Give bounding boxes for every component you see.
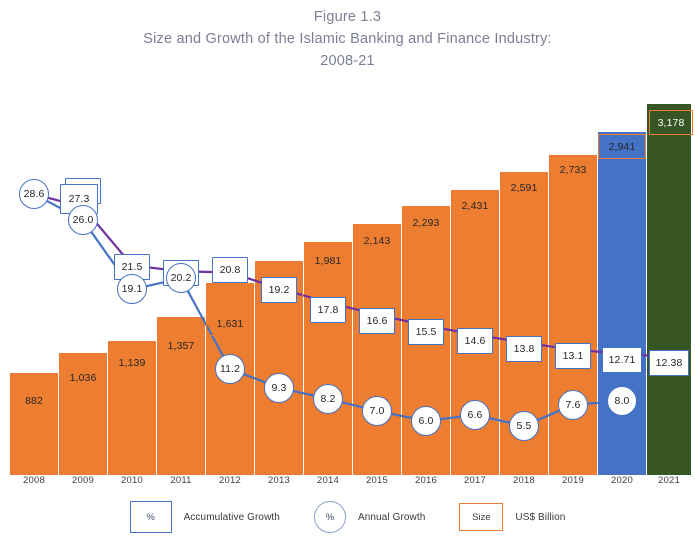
- size-label-2008: 882: [12, 388, 56, 413]
- accumulative-label-2019: 13.1: [555, 343, 591, 369]
- annual-label-2011: 20.2: [166, 263, 196, 293]
- size-label-2009: 1,036: [59, 365, 107, 390]
- size-label-2014: 1,981: [304, 248, 352, 273]
- size-marker-icon: Size: [459, 503, 503, 531]
- annual-label-2020: 8.0: [607, 386, 637, 416]
- annual-label-2016: 6.0: [411, 406, 441, 436]
- legend-item-accumulative: % Accumulative Growth: [130, 501, 314, 533]
- legend-label-annual: Annual Growth: [358, 512, 425, 523]
- annual-label-2015: 7.0: [362, 396, 392, 426]
- accumulative-label-2014: 17.8: [310, 297, 346, 323]
- annual-label-2008: 28.6: [19, 179, 49, 209]
- accumulative-label-2018: 13.8: [506, 336, 542, 362]
- annual-label-2014: 8.2: [313, 384, 343, 414]
- chart-legend: % Accumulative Growth % Annual Growth Si…: [0, 497, 695, 537]
- legend-item-annual: % Annual Growth: [314, 501, 459, 533]
- x-tick-2010: 2010: [108, 475, 156, 486]
- size-label-2011: 1,357: [157, 333, 205, 358]
- x-axis: 2008200920102011201220132014201520162017…: [0, 475, 695, 497]
- accumulative-label-2017: 14.6: [457, 328, 493, 354]
- accumulative-marker-icon: %: [130, 501, 172, 533]
- size-label-2019: 2,733: [549, 157, 597, 182]
- x-tick-2014: 2014: [304, 475, 352, 486]
- data-label-layer: 8821,0361,1391,3571,6311,8131,9812,1432,…: [0, 0, 695, 497]
- x-tick-2008: 2008: [10, 475, 58, 486]
- size-label-2020: 2,941: [598, 134, 646, 159]
- x-tick-2020: 2020: [598, 475, 646, 486]
- size-label-2010: 1,139: [108, 350, 156, 375]
- size-label-2021: 3,178: [649, 110, 693, 135]
- x-tick-2009: 2009: [59, 475, 107, 486]
- legend-label-accumulative: Accumulative Growth: [184, 512, 280, 523]
- annual-label-2018: 5.5: [509, 411, 539, 441]
- x-tick-2017: 2017: [451, 475, 499, 486]
- legend-label-size: US$ Billion: [515, 512, 565, 523]
- accumulative-label-2016: 15.5: [408, 319, 444, 345]
- annual-marker-icon: %: [314, 501, 346, 533]
- x-tick-2021: 2021: [647, 475, 691, 486]
- x-tick-2018: 2018: [500, 475, 548, 486]
- x-tick-2013: 2013: [255, 475, 303, 486]
- size-label-2015: 2,143: [353, 228, 401, 253]
- accumulative-label-2012: 20.8: [212, 257, 248, 283]
- accumulative-label-2020: 12.71: [602, 347, 642, 373]
- annual-label-2010: 19.1: [117, 274, 147, 304]
- chart-container: Figure 1.3 Size and Growth of the Islami…: [0, 0, 695, 543]
- x-tick-2016: 2016: [402, 475, 450, 486]
- size-label-2012: 1,631: [206, 311, 254, 336]
- annual-label-2019: 7.6: [558, 390, 588, 420]
- annual-label-2012: 11.2: [215, 354, 245, 384]
- annual-label-2009: 26.0: [68, 205, 98, 235]
- size-label-2018: 2,591: [500, 175, 548, 200]
- size-label-2017: 2,431: [451, 193, 499, 218]
- x-tick-2011: 2011: [157, 475, 205, 486]
- annual-label-2013: 9.3: [264, 373, 294, 403]
- annual-label-2017: 6.6: [460, 400, 490, 430]
- accumulative-label-2015: 16.6: [359, 308, 395, 334]
- legend-item-size: Size US$ Billion: [459, 503, 565, 531]
- x-tick-2019: 2019: [549, 475, 597, 486]
- accumulative-label-2021: 12.38: [649, 350, 689, 376]
- accumulative-label-2013: 19.2: [261, 277, 297, 303]
- x-tick-2015: 2015: [353, 475, 401, 486]
- x-tick-2012: 2012: [206, 475, 254, 486]
- size-label-2016: 2,293: [402, 210, 450, 235]
